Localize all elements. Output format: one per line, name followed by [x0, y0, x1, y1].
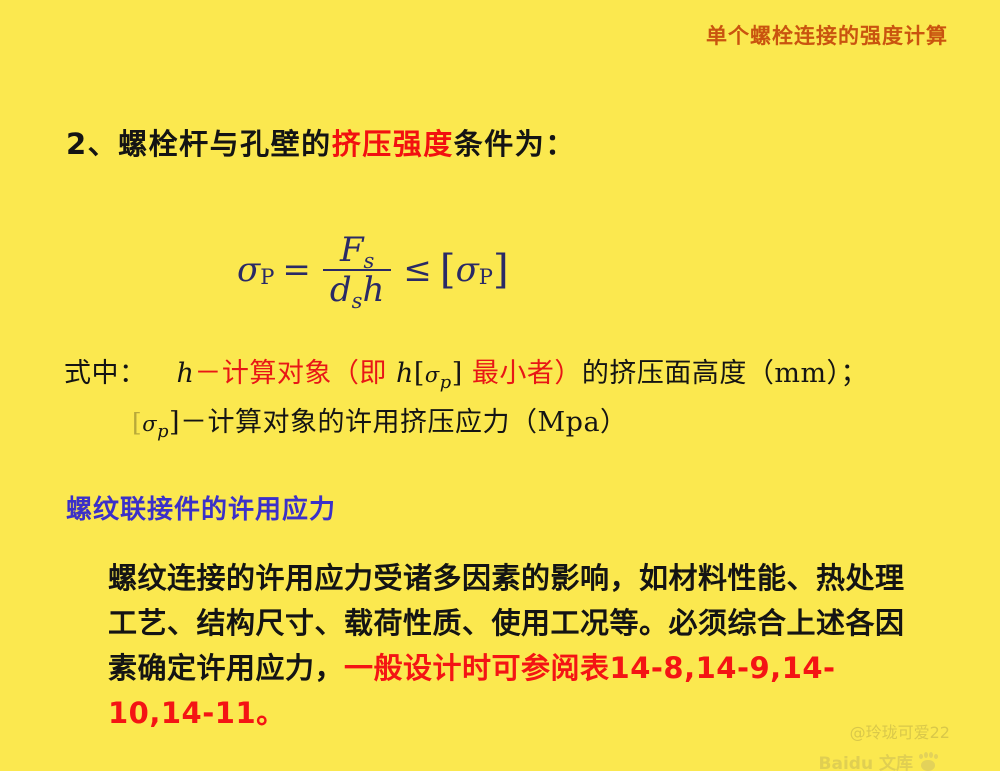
where-line1-sigma: σ — [425, 362, 440, 387]
formula-numerator-symbol: F — [340, 230, 364, 270]
allowable-stress-subtitle: 螺纹联接件的许用应力 — [66, 489, 336, 526]
formula-fraction: Fs dsh — [323, 232, 392, 308]
where-line1-sigma-subscript: p — [440, 372, 452, 393]
where-line2-text: 计算对象的许用挤压应力（Mpa） — [208, 407, 628, 438]
where-line2-close-bracket: ] — [169, 407, 180, 438]
formula-numerator-subscript: s — [364, 248, 375, 273]
section-heading-prefix: 2、螺栓杆与孔壁的 — [66, 127, 332, 161]
formula-denominator-symbol: d — [330, 270, 352, 310]
where-line1-red-part1: 计算对象（即 — [222, 358, 396, 389]
formula-equals-sign: = — [282, 250, 311, 290]
formula-lhs-symbol: σ — [237, 250, 260, 290]
where-line1-variable: h — [177, 358, 195, 389]
brand-watermark: Baidu 文库 — [819, 752, 938, 771]
where-line1-black-tail: 的挤压面高度（mm）； — [582, 358, 868, 389]
formula-numerator: Fs — [333, 232, 381, 269]
user-handle-watermark: @玲珑可爱22 — [850, 719, 950, 743]
where-line2-sigma: σ — [142, 411, 157, 436]
formula-lhs-subscript: P — [260, 264, 274, 289]
bearing-strength-formula: σP = Fs dsh ≤ [σP] — [237, 232, 509, 308]
where-line1-close-bracket: ] — [452, 358, 463, 389]
slide-running-title: 单个螺栓连接的强度计算 — [706, 20, 948, 50]
formula-rhs-close-bracket: ] — [493, 247, 509, 293]
where-line1-dash: － — [194, 358, 222, 389]
where-label: 式中： — [64, 358, 147, 389]
where-line1-red-part2: 最小者） — [463, 358, 582, 389]
formula-rhs-open-bracket: [ — [440, 247, 456, 293]
section-heading: 2、螺栓杆与孔壁的挤压强度条件为： — [66, 121, 576, 163]
where-line2-dash: － — [180, 407, 208, 438]
formula-denominator-symbol2: h — [363, 270, 385, 310]
slide-canvas: 单个螺栓连接的强度计算 2、螺栓杆与孔壁的挤压强度条件为： σP = Fs ds… — [0, 0, 1000, 771]
body-paragraph: 螺纹连接的许用应力受诸多因素的影响，如材料性能、热处理工艺、结构尺寸、载荷性质、… — [108, 556, 908, 736]
formula-relation-sign: ≤ — [403, 250, 432, 290]
formula-denominator: dsh — [323, 271, 392, 308]
paw-icon — [917, 752, 938, 771]
formula-rhs-subscript: P — [479, 264, 493, 289]
where-definition-line-1: 式中：h－计算对象（即 h[σp] 最小者）的挤压面高度（mm）； — [64, 351, 868, 390]
section-heading-highlight: 挤压强度 — [332, 127, 454, 161]
brand-watermark-label: Baidu 文库 — [819, 752, 913, 771]
where-line2-open-bracket: [ — [132, 408, 142, 437]
section-heading-suffix: 条件为： — [454, 127, 576, 161]
where-line1-inner-variable: h — [396, 358, 414, 389]
formula-denominator-subscript: s — [352, 288, 363, 313]
formula-rhs-symbol: σ — [456, 250, 479, 290]
where-line2-sigma-subscript: p — [157, 421, 169, 442]
where-definition-line-2: [σp]－计算对象的许用挤压应力（Mpa） — [132, 400, 628, 439]
where-line1-open-bracket: [ — [414, 358, 425, 389]
